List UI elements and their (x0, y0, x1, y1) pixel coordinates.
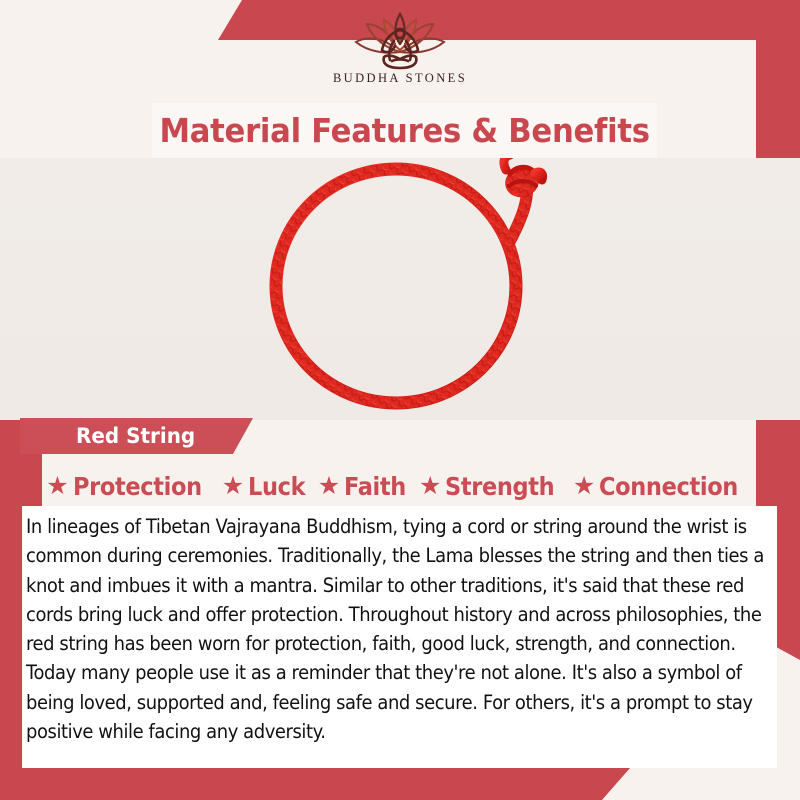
red-string-bracelet-image (244, 158, 574, 420)
infographic-page: BUDDHA STONES (0, 0, 800, 800)
benefit-label: Luck (248, 472, 305, 501)
benefit-keyword-row: ★ Protection ★ Luck ★ Faith ★ Strength ★… (0, 466, 800, 506)
star-icon: ★ (318, 474, 340, 499)
material-ribbon: Red String (20, 418, 253, 454)
star-icon: ★ (573, 474, 595, 499)
star-icon: ★ (222, 474, 244, 499)
star-icon: ★ (419, 474, 441, 499)
benefit-label: Connection (599, 472, 738, 501)
benefit-label: Strength (445, 472, 554, 501)
benefit-label: Protection (73, 472, 202, 501)
brand-name: BUDDHA STONES (333, 71, 467, 86)
description-panel: In lineages of Tibetan Vajrayana Buddhis… (22, 506, 777, 768)
material-name: Red String (76, 424, 195, 448)
benefit-item-luck: ★ Luck (222, 472, 312, 501)
benefit-item-strength: ★ Strength (419, 472, 567, 501)
benefit-item-protection: ★ Protection (46, 472, 215, 501)
benefit-item-connection: ★ Connection (573, 472, 754, 501)
brand-logo: BUDDHA STONES (0, 8, 800, 100)
title-banner: Material Features & Benefits (152, 103, 657, 158)
product-image-panel (0, 158, 800, 420)
benefit-label: Faith (344, 472, 406, 501)
description-text: In lineages of Tibetan Vajrayana Buddhis… (26, 512, 781, 746)
decor-bar-bottom (0, 768, 630, 800)
star-icon: ★ (46, 474, 68, 499)
page-title: Material Features & Benefits (159, 111, 649, 150)
benefit-item-faith: ★ Faith (318, 472, 413, 501)
lotus-meditation-figure-icon (334, 8, 466, 70)
